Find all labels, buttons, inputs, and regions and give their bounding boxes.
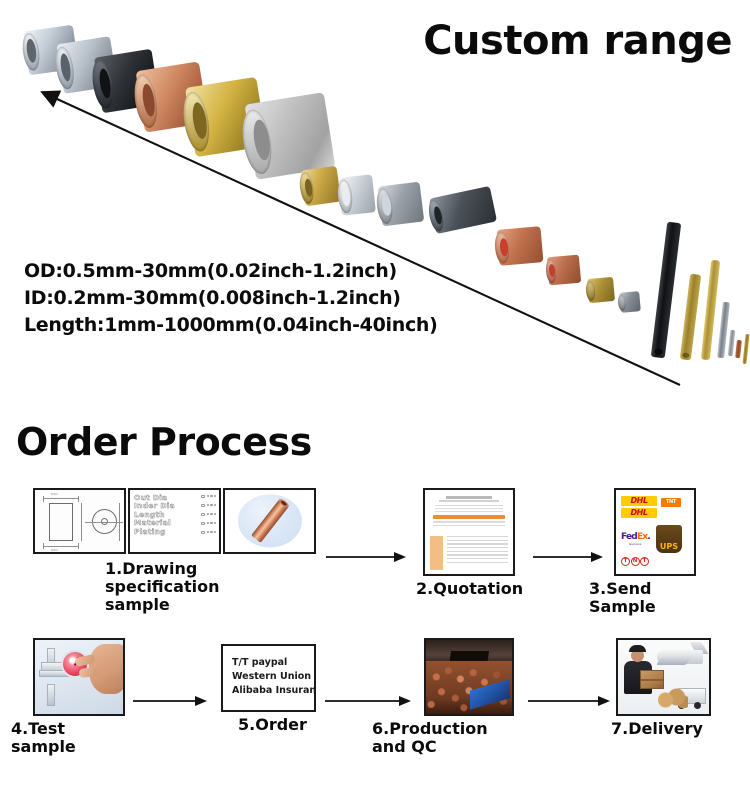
arrow-4-icon: [325, 694, 413, 708]
tnt-logo-circles: TNT: [621, 557, 689, 566]
quote-doc-subtitle-bar: [439, 500, 500, 502]
thumb-payment-methods: T/T paypal Western Union Alibaba Insuran…: [221, 644, 316, 712]
truck-wheel-1: [694, 702, 701, 709]
courier-cap: [629, 645, 646, 652]
tnt-logo-top: TNT: [661, 498, 681, 507]
spec-line-od: OD:0.5mm-30mm(0.02inch-1.2inch): [24, 258, 438, 285]
fedex-sub-label: Express: [621, 542, 650, 546]
section-title-order-process: Order Process: [16, 420, 312, 464]
caliper-jaw-lower: [47, 684, 55, 706]
quote-doc-orange-bar: [433, 515, 505, 520]
blueprint-rect: [49, 503, 73, 541]
step-label-order: 5.Order: [238, 716, 307, 734]
thumb-delivery-photo: [616, 638, 711, 716]
tube-brass-16: [680, 274, 701, 361]
step-production[interactable]: 6.Production and QC: [424, 638, 514, 716]
spec-dots-row-4: [201, 522, 216, 525]
tube-dark-10: [429, 186, 497, 234]
step-label-quotation: 2.Quotation: [416, 580, 523, 598]
parcel-stack: [658, 688, 688, 708]
specification-list: OD:0.5mm-30mm(0.02inch-1.2inch) ID:0.2mm…: [24, 258, 438, 339]
tube-copper-11: [497, 226, 544, 266]
custom-range-panel: Custom range OD:0.5mm-30mm(0.02inch-1.2i…: [0, 0, 750, 400]
carried-package: [640, 670, 664, 689]
tube-brass-13: [587, 277, 615, 303]
page-title-custom-range: Custom range: [423, 18, 732, 64]
payment-method-1: T/T paypal: [232, 656, 314, 670]
step-label-test-sample: 4.Test sample: [11, 720, 125, 756]
thumb-shipping-carriers: DHL DHL TNT FedEx. Express UPS TNT: [614, 488, 696, 576]
tube-brass-21: [742, 334, 749, 364]
step-label-production: 6.Production and QC: [372, 720, 514, 756]
arrow-2-icon: [533, 550, 605, 564]
quote-doc-table: [447, 536, 508, 570]
payment-method-3: Alibaba Insurance: [232, 684, 314, 698]
blueprint-dim-top: 5.0m: [51, 492, 58, 496]
airplane-wing: [656, 656, 692, 665]
thumb-test-sample-photo: [33, 638, 125, 716]
tube-copper-20: [735, 340, 742, 358]
spec-line-id: ID:0.2mm-30mm(0.008inch-1.2inch): [24, 285, 438, 312]
arrow-5-icon: [528, 694, 612, 708]
payment-method-2: Western Union: [232, 670, 314, 684]
tube-black-15: [651, 222, 681, 359]
step-drawing[interactable]: 5.0m 3.0m Out Dia Inder Dia Length Mater…: [33, 488, 316, 554]
tube-gold-7: [301, 166, 342, 207]
thumb-quotation-document: [423, 488, 515, 576]
tube-silver-8: [338, 174, 376, 215]
step-send-sample[interactable]: DHL DHL TNT FedEx. Express UPS TNT: [614, 488, 696, 576]
step-label-delivery: 7.Delivery: [611, 720, 703, 738]
fedex-logo: FedEx.: [621, 532, 650, 542]
tube-steel-9: [378, 182, 425, 227]
quote-doc-side-panel: [430, 536, 443, 570]
tube-steel-14: [619, 291, 641, 313]
step-test-sample[interactable]: 4.Test sample: [33, 638, 125, 716]
step-quotation[interactable]: 2.Quotation: [423, 488, 515, 576]
thumb-blueprint-drawing: 5.0m 3.0m: [33, 488, 126, 554]
step-order[interactable]: T/T paypal Western Union Alibaba Insuran…: [221, 644, 316, 712]
spec-dots-row-5: [201, 531, 216, 534]
spec-dots-row-1: [201, 495, 216, 498]
step-label-send-sample: 3.Send Sample: [589, 580, 696, 616]
thumb-spec-word-list: Out Dia Inder Dia Length Material Platin…: [128, 488, 221, 554]
arrow-3-icon: [133, 694, 209, 708]
order-process-panel: Order Process 5.0m: [0, 400, 750, 800]
dhl-logo-2: DHL: [621, 508, 657, 518]
tube-steel-19: [728, 330, 736, 356]
arrow-1-icon: [326, 550, 408, 564]
ups-logo: UPS: [656, 525, 682, 553]
blueprint-dim-bottom: 3.0m: [51, 548, 58, 552]
thumb-copper-pipe-photo: [223, 488, 316, 554]
thumb-production-photo: [424, 638, 514, 716]
step-delivery[interactable]: 7.Delivery: [616, 638, 711, 716]
tube-brass-17: [701, 260, 720, 360]
dhl-logo-1: DHL: [621, 496, 657, 506]
tube-copper-12: [547, 255, 581, 286]
quote-doc-title-bar: [446, 496, 493, 499]
spec-dots-row-2: [201, 504, 216, 507]
step-label-drawing: 1.Drawing specification sample: [105, 560, 219, 614]
spec-dots-row-3: [201, 513, 216, 516]
spec-line-length: Length:1mm-1000mm(0.04inch-40inch): [24, 312, 438, 339]
